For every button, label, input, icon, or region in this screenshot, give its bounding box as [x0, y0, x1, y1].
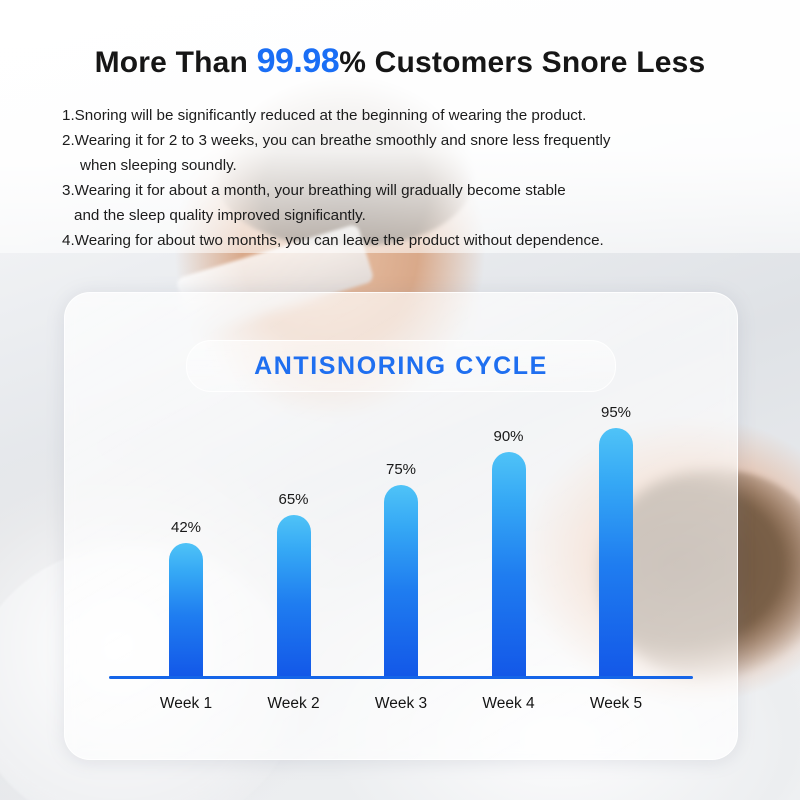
- list-item: 2.Wearing it for 2 to 3 weeks, you can b…: [62, 128, 746, 153]
- bar-value-label: 65%: [278, 491, 308, 508]
- bar-column: 65%: [251, 491, 337, 676]
- x-tick-label: Week 3: [358, 695, 444, 713]
- list-item-continuation: when sleeping soundly.: [62, 153, 746, 178]
- list-item: 1.Snoring will be significantly reduced …: [62, 103, 746, 128]
- chart-card: ANTISNORING CYCLE 42% 65% 75% 90%: [64, 292, 738, 760]
- list-item: 3.Wearing it for about a month, your bre…: [62, 178, 746, 203]
- list-item-continuation: and the sleep quality improved significa…: [62, 203, 746, 228]
- bar: [492, 452, 526, 676]
- x-axis-tick-labels: Week 1 Week 2 Week 3 Week 4 Week 5: [103, 695, 699, 713]
- bar: [599, 428, 633, 676]
- bar-value-label: 75%: [386, 461, 416, 478]
- bar-column: 75%: [358, 461, 444, 676]
- page-title: More Than 99.98% Customers Snore Less: [0, 42, 800, 81]
- list-item: 4.Wearing for about two months, you can …: [62, 228, 746, 253]
- bar-column: 42%: [143, 519, 229, 676]
- x-tick-label: Week 1: [143, 695, 229, 713]
- x-axis-line: [109, 676, 693, 680]
- bar-column: 90%: [466, 428, 552, 676]
- x-tick-label: Week 5: [573, 695, 659, 713]
- bar-value-label: 95%: [601, 404, 631, 421]
- bar-value-label: 42%: [171, 519, 201, 536]
- benefit-list: 1.Snoring will be significantly reduced …: [0, 103, 800, 253]
- bar-column: 95%: [573, 404, 659, 676]
- product-infographic: More Than 99.98% Customers Snore Less 1.…: [0, 0, 800, 800]
- chart-title-pill: ANTISNORING CYCLE: [186, 340, 616, 392]
- headline-prefix: More Than: [95, 46, 257, 79]
- x-tick-label: Week 2: [251, 695, 337, 713]
- bar: [277, 515, 311, 676]
- headline-suffix: % Customers Snore Less: [339, 46, 705, 79]
- header-block: More Than 99.98% Customers Snore Less 1.…: [0, 0, 800, 253]
- chart-title-label: ANTISNORING CYCLE: [254, 352, 548, 381]
- bar-value-label: 90%: [493, 428, 523, 445]
- headline-percentage: 99.98: [257, 42, 340, 80]
- bar: [384, 485, 418, 676]
- bar: [169, 543, 203, 676]
- bar-series: 42% 65% 75% 90% 95%: [103, 426, 699, 676]
- x-tick-label: Week 4: [466, 695, 552, 713]
- antisnoring-cycle-chart: 42% 65% 75% 90% 95%: [103, 411, 699, 721]
